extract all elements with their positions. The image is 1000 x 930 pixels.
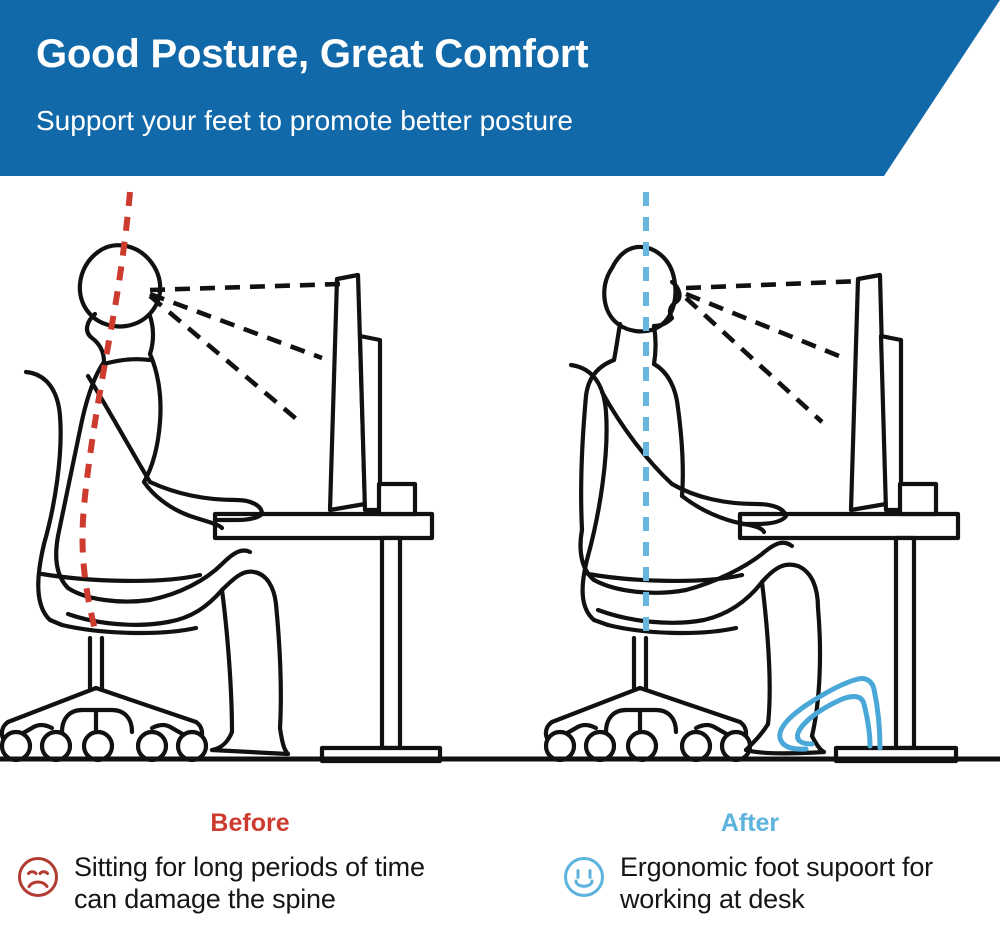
before-caption-text: Sitting for long periods of time can dam… xyxy=(74,852,425,916)
before-scene xyxy=(2,192,440,761)
before-caption-body: Sitting for long periods of time can dam… xyxy=(16,852,425,916)
after-caption-body: Ergonomic foot supoort for working at de… xyxy=(562,852,933,916)
gaze-lines-after xyxy=(686,281,861,422)
infographic-page: Good Posture, Great Comfort Support your… xyxy=(0,0,1000,930)
after-heading: After xyxy=(500,809,1000,838)
after-scene xyxy=(546,192,958,761)
person-after xyxy=(581,247,825,753)
page-subtitle: Support your feet to promote better post… xyxy=(36,105,573,137)
after-caption-text: Ergonomic foot supoort for working at de… xyxy=(620,852,933,916)
office-chair-before xyxy=(2,372,206,760)
monitor-before xyxy=(330,275,415,514)
sad-face-icon xyxy=(16,855,60,899)
page-title: Good Posture, Great Comfort xyxy=(36,32,588,77)
caption-before: Before Sitting for long periods of time … xyxy=(0,790,500,930)
before-heading: Before xyxy=(0,809,500,838)
illustration-area: .ln { fill:none; stroke:#111111; stroke-… xyxy=(0,176,1000,776)
desk-after xyxy=(740,514,958,761)
caption-after: After Ergonomic foot supoort for working… xyxy=(500,790,1000,930)
gaze-lines-before xyxy=(150,284,340,422)
smiley-face-icon xyxy=(562,855,606,899)
header-banner xyxy=(0,0,1000,176)
captions-row: Before Sitting for long periods of time … xyxy=(0,790,1000,930)
monitor-after xyxy=(851,275,936,514)
ergonomic-footrest xyxy=(780,678,880,749)
posture-comparison-illustration: .ln { fill:none; stroke:#111111; stroke-… xyxy=(0,176,1000,776)
